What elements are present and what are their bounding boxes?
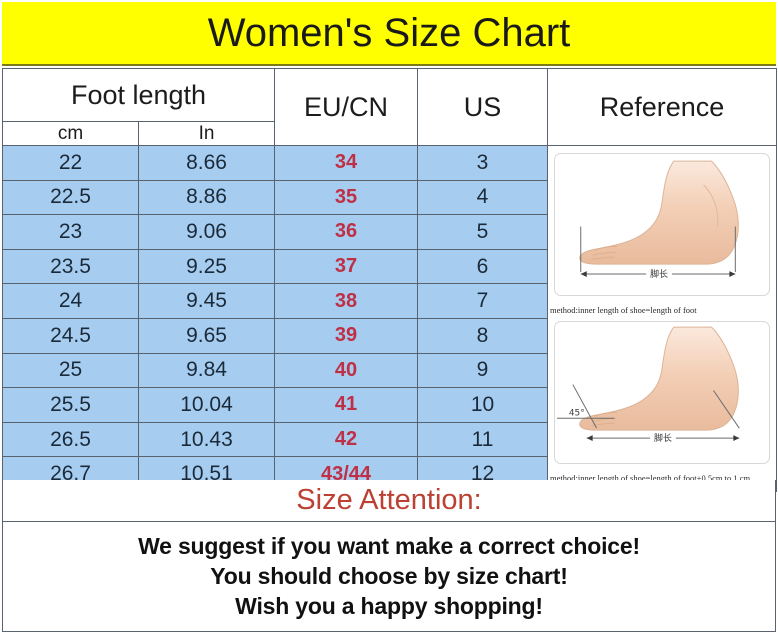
size-table: Foot length EU/CN US Reference cm In 22 …	[2, 68, 777, 492]
attention-notes: We suggest if you want make a correct ch…	[2, 522, 776, 632]
angle-label: 45°	[569, 409, 585, 419]
cell-us: 9	[418, 353, 548, 388]
group-header-row: Foot length EU/CN US Reference	[3, 69, 777, 122]
reference-cell: 脚长 method:inner length of shoe=length of…	[548, 146, 777, 492]
cell-eu: 35	[275, 180, 418, 215]
reference-panel-1: 脚长 method:inner length of shoe=length of…	[548, 150, 776, 318]
cell-eu: 40	[275, 353, 418, 388]
page-title: Women's Size Chart	[208, 11, 571, 56]
note-line: You should choose by size chart!	[210, 563, 567, 590]
cell-in: 10.43	[139, 422, 275, 457]
foot-diagram-card-2: 45° 脚长	[554, 321, 770, 464]
table-body: 22 8.66 34 3	[3, 146, 777, 492]
foot-angle-diagram-icon: 45° 脚长	[555, 322, 769, 463]
cell-cm: 26.5	[3, 422, 139, 457]
cell-in: 9.25	[139, 249, 275, 284]
cell-eu: 41	[275, 388, 418, 423]
size-table-wrapper: Foot length EU/CN US Reference cm In 22 …	[2, 68, 776, 480]
size-chart-page: Women's Size Chart Foot length EU/CN US …	[0, 0, 778, 640]
size-attention-row: Size Attention:	[2, 480, 776, 522]
cell-cm: 25.5	[3, 388, 139, 423]
table-header: Foot length EU/CN US Reference cm In	[3, 69, 777, 146]
cell-cm: 24.5	[3, 318, 139, 353]
cell-us: 4	[418, 180, 548, 215]
reference-stack: 脚长 method:inner length of shoe=length of…	[548, 150, 776, 486]
cell-cm: 22	[3, 146, 139, 181]
cell-in: 9.65	[139, 318, 275, 353]
reference-panel-2: 45° 脚长 method:inner length of shoe=lengt…	[548, 318, 776, 486]
subheader-in: In	[139, 122, 275, 146]
cell-us: 11	[418, 422, 548, 457]
cell-cm: 22.5	[3, 180, 139, 215]
measure-label-1: 脚长	[650, 268, 668, 280]
cell-cm: 25	[3, 353, 139, 388]
foot-side-view-diagram-icon: 脚长	[555, 154, 769, 295]
cell-us: 7	[418, 284, 548, 319]
header-eu-cn: EU/CN	[275, 69, 418, 146]
cell-eu: 39	[275, 318, 418, 353]
foot-diagram-card-1: 脚长	[554, 153, 770, 296]
cell-us: 10	[418, 388, 548, 423]
note-line: Wish you a happy shopping!	[235, 593, 543, 620]
cell-cm: 23.5	[3, 249, 139, 284]
cell-in: 9.84	[139, 353, 275, 388]
header-us: US	[418, 69, 548, 146]
cell-in: 8.86	[139, 180, 275, 215]
table-row: 22 8.66 34 3	[3, 146, 777, 181]
cell-in: 8.66	[139, 146, 275, 181]
cell-eu: 37	[275, 249, 418, 284]
cell-us: 6	[418, 249, 548, 284]
cell-eu: 42	[275, 422, 418, 457]
reference-caption-1: method:inner length of shoe=length of fo…	[550, 305, 774, 316]
header-reference: Reference	[548, 69, 777, 146]
cell-in: 9.45	[139, 284, 275, 319]
cell-eu: 34	[275, 146, 418, 181]
cell-us: 5	[418, 215, 548, 250]
cell-cm: 23	[3, 215, 139, 250]
cell-in: 10.04	[139, 388, 275, 423]
cell-cm: 24	[3, 284, 139, 319]
subheader-cm: cm	[3, 122, 139, 146]
title-band: Women's Size Chart	[2, 2, 776, 66]
header-foot-length: Foot length	[3, 69, 275, 122]
cell-in: 9.06	[139, 215, 275, 250]
cell-eu: 38	[275, 284, 418, 319]
size-attention-heading: Size Attention:	[296, 484, 481, 517]
cell-eu: 36	[275, 215, 418, 250]
cell-us: 8	[418, 318, 548, 353]
measure-label-2: 脚长	[654, 433, 672, 445]
cell-us: 3	[418, 146, 548, 181]
note-line: We suggest if you want make a correct ch…	[138, 533, 640, 560]
